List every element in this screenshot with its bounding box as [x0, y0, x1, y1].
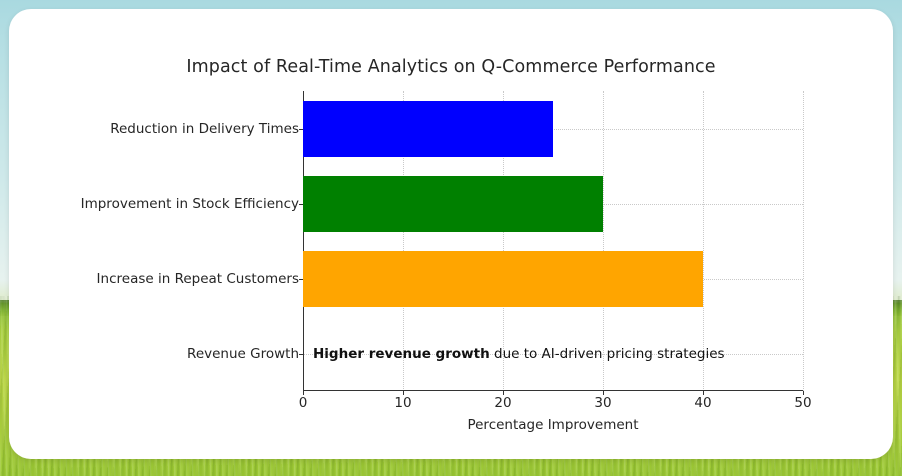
x-tick-label: 50	[794, 395, 811, 411]
y-tick-mark	[299, 129, 303, 130]
annotation-bold-text: Higher revenue growth	[313, 346, 490, 362]
plot-area: 01020304050 Revenue GrowthIncrease in Re…	[303, 91, 803, 391]
annotation-revenue-growth: Higher revenue growth due to AI-driven p…	[313, 346, 725, 362]
bar-increase-in-repeat-customers[interactable]	[303, 251, 703, 307]
vertical-gridline	[803, 91, 804, 391]
x-tick-label: 0	[299, 395, 308, 411]
bar-improvement-in-stock-efficiency[interactable]	[303, 176, 603, 232]
x-axis-label: Percentage Improvement	[303, 417, 803, 433]
x-tick-label: 40	[694, 395, 711, 411]
y-tick-mark	[299, 279, 303, 280]
x-tick-label: 20	[494, 395, 511, 411]
y-tick-mark	[299, 204, 303, 205]
bar-chart-figure: Impact of Real-Time Analytics on Q-Comme…	[9, 9, 893, 459]
x-axis-spine	[303, 390, 803, 391]
x-tick-label: 10	[394, 395, 411, 411]
x-tick-label: 30	[594, 395, 611, 411]
page-background: Impact of Real-Time Analytics on Q-Comme…	[0, 0, 902, 476]
y-tick-label: Revenue Growth	[187, 346, 299, 362]
y-tick-label: Reduction in Delivery Times	[110, 121, 299, 137]
y-tick-mark	[299, 354, 303, 355]
chart-title: Impact of Real-Time Analytics on Q-Comme…	[9, 57, 893, 77]
chart-card: Impact of Real-Time Analytics on Q-Comme…	[9, 9, 893, 459]
y-tick-label: Increase in Repeat Customers	[97, 271, 299, 287]
bar-reduction-in-delivery-times[interactable]	[303, 101, 553, 157]
y-tick-label: Improvement in Stock Efficiency	[81, 196, 299, 212]
